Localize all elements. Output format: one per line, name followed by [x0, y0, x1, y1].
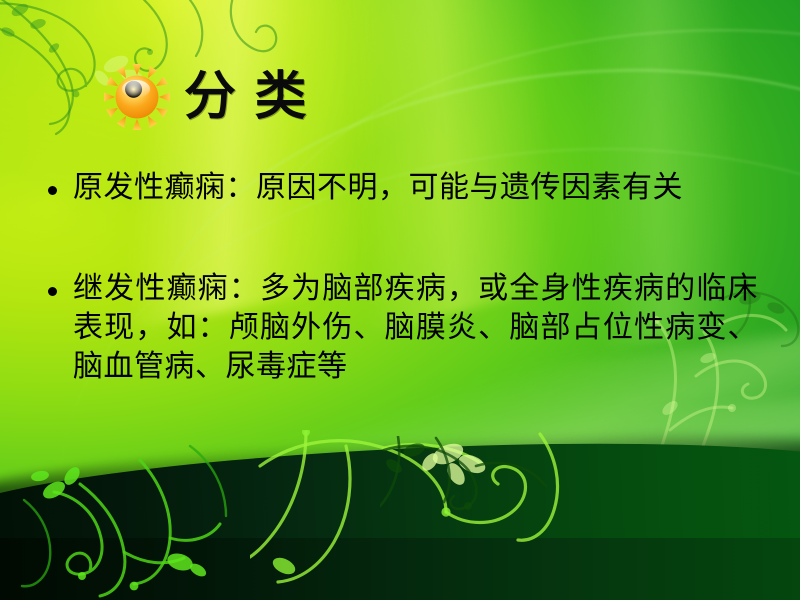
bullet-dot-icon	[48, 287, 57, 296]
list-item: 原发性癫痫：原因不明，可能与遗传因素有关	[42, 168, 758, 207]
slide-title: 分 类	[100, 60, 308, 134]
bullet-dot-icon	[48, 186, 57, 195]
bottom-flat-band	[0, 538, 800, 600]
bullet-text: 原发性癫痫：原因不明，可能与遗传因素有关	[73, 168, 758, 207]
page-title: 分 类	[184, 71, 308, 123]
slide-canvas: 分 类 原发性癫痫：原因不明，可能与遗传因素有关 继发性癫痫：多为脑部疾病，或全…	[0, 0, 800, 600]
bullet-text: 继发性癫痫：多为脑部疾病，或全身性疾病的临床表现，如：颅脑外伤、脑膜炎、脑部占位…	[73, 269, 758, 386]
sun-icon	[100, 60, 174, 134]
list-item: 继发性癫痫：多为脑部疾病，或全身性疾病的临床表现，如：颅脑外伤、脑膜炎、脑部占位…	[42, 269, 758, 386]
bullet-list: 原发性癫痫：原因不明，可能与遗传因素有关 继发性癫痫：多为脑部疾病，或全身性疾病…	[42, 168, 758, 386]
